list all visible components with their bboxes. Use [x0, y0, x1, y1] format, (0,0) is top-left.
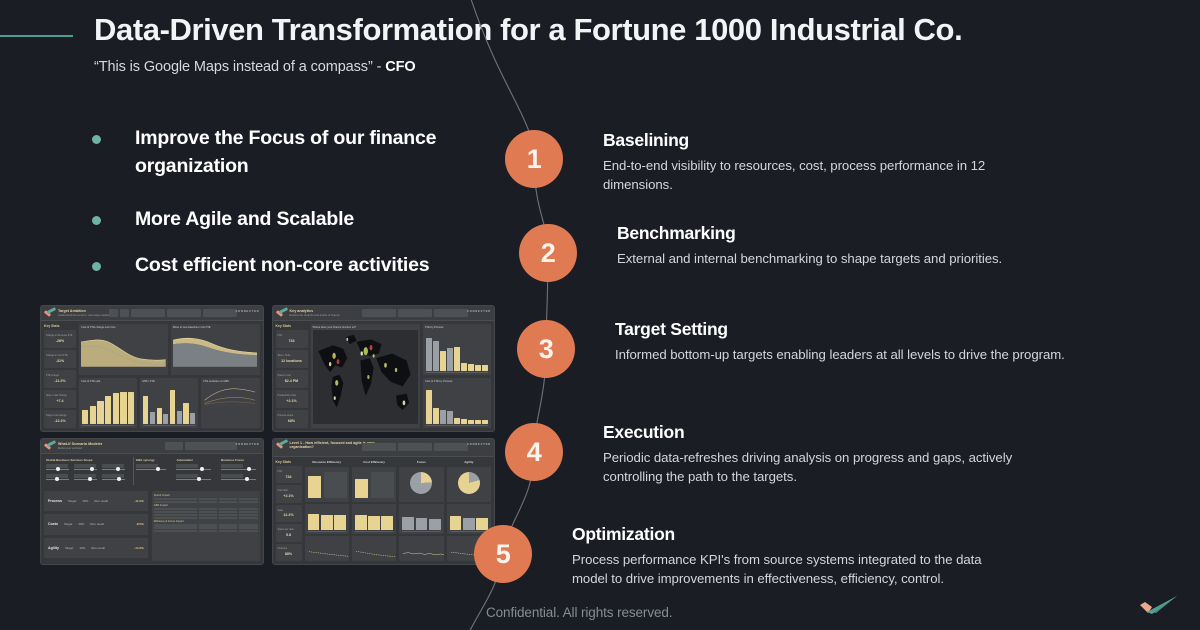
bar-chart [82, 385, 134, 425]
step-title: Benchmarking [617, 223, 1077, 244]
summary-metric: Target [64, 522, 72, 526]
bar-chart [355, 472, 368, 498]
table-row [154, 527, 258, 529]
kpi-sidebar-heading: Key Stats [276, 460, 302, 464]
step-content-2: Benchmarking External and internal bench… [617, 223, 1077, 268]
chart-panel-cost-process: Cost of FTE by Process [423, 378, 491, 429]
slider-group: Business Focus [219, 457, 260, 485]
summary-result: Run result [91, 546, 105, 550]
footer-text: Confidential. All rights reserved. [486, 605, 672, 620]
bullet-dot-icon [92, 216, 101, 225]
slider[interactable] [136, 464, 169, 471]
step-title: Execution [603, 422, 1055, 443]
step-number: 4 [527, 437, 542, 468]
bullet-dot-icon [92, 135, 101, 144]
summary-row: Agility Target 12% Run result -14.2% [44, 538, 148, 558]
table-row [154, 498, 258, 500]
thumbnail-subtitle: Understand the current / new target ambi… [58, 314, 112, 317]
kpi-label: Outcome [278, 548, 300, 551]
filter-dropdown[interactable] [434, 443, 468, 451]
table-row [154, 530, 258, 532]
chart-panel [447, 504, 491, 533]
bullet-dot-icon [92, 262, 101, 271]
chart-panel [352, 536, 396, 561]
filter-dropdown[interactable] [167, 309, 201, 317]
axis-line [450, 531, 488, 532]
kpi-label: Target cost savings [46, 415, 74, 418]
summary-name: Agility [48, 546, 59, 550]
panel-title: GBS / FTE [142, 380, 196, 383]
step-description: Periodic data-refreshes driving analysis… [603, 448, 1055, 486]
kpi-card: Spans per ratio 5.8 [276, 524, 302, 541]
summary-delta: -8.5% [136, 522, 144, 526]
chart-panel-pie [399, 467, 443, 502]
slider[interactable] [74, 464, 99, 471]
bar-chart-stacked [426, 333, 488, 371]
slider-group-title: GBS synergy [136, 458, 169, 462]
kpi-value: 12.2% [278, 513, 300, 517]
chart-panel-area: Cost of FTE change over time [79, 324, 168, 375]
axis-line [355, 531, 393, 532]
chart-panel-bars: Cost of FTE split [79, 378, 137, 429]
table-section-heading: Efficiency & Focus Impact [154, 520, 258, 523]
sparkline-chart [308, 549, 349, 558]
kpi-card: Spend / cost $2.4 PM [276, 370, 308, 388]
checkmark-logo-icon [276, 309, 287, 318]
thumbnail-body: Global Business Services Scope [41, 454, 263, 564]
panel-title: Cost of FTE by Process [425, 380, 489, 383]
kpi-card: FTE change -11.2% [44, 370, 76, 388]
slider[interactable] [74, 474, 99, 481]
chart-panel-area-2: Move to new baseline in the FTE [171, 324, 260, 375]
world-map[interactable] [313, 330, 418, 424]
kpi-value: +2.1% [278, 399, 306, 403]
checkmark-logo-icon [276, 441, 287, 450]
bar-chart [450, 509, 488, 529]
chart-area: Where does your finance function sit? [311, 324, 492, 428]
metric-column: Cost Efficiency [352, 460, 396, 561]
accent-rule [0, 35, 73, 37]
kpi-card: Change in Cost FTE -31% [44, 350, 76, 368]
step-description: End-to-end visibility to resources, cost… [603, 156, 1033, 194]
panel-title: Move to new baseline in the FTE [173, 326, 258, 329]
summary-pct: 20% [78, 522, 84, 526]
filter-chip[interactable] [109, 309, 118, 317]
slider[interactable] [102, 474, 127, 481]
step-description: Informed bottom-up targets enabling lead… [615, 345, 1065, 364]
kpi-label: FTE change [46, 375, 74, 378]
kpi-value: $2.4 PM [278, 379, 306, 383]
filter-bar[interactable] [109, 309, 237, 317]
kpi-value: -11.2% [46, 379, 74, 383]
results-panel: Process Target 10% Run result -11.0% Cos… [44, 491, 260, 561]
slider-group: Automation [174, 457, 215, 485]
chart-row: Cost of FTE change over time Move to new… [79, 324, 260, 375]
kpi-label: Cost ratio [278, 490, 300, 493]
summary-row: Costs Target 20% Run result -8.5% [44, 514, 148, 534]
chart-panel [305, 467, 349, 502]
pie-chart [410, 472, 432, 494]
table-row [154, 517, 258, 519]
thumbnail-title: Target Ambition Understand the current /… [58, 309, 112, 317]
subtitle-attribution: CFO [385, 59, 415, 75]
summary-column: Process Target 10% Run result -11.0% Cos… [44, 491, 148, 561]
table-row [154, 511, 258, 513]
bar-chart [355, 509, 393, 529]
kpi-value: +2.1% [278, 494, 300, 498]
step-description: External and internal benchmarking to sh… [617, 249, 1077, 268]
kpi-card: Process scope 68% [276, 410, 308, 428]
summary-result: Run result [90, 522, 104, 526]
thumbnail-brand: CONNECTED [467, 310, 491, 313]
kpi-value: 88% [278, 552, 300, 556]
thumbnail-brand: CONNECTED [236, 443, 260, 446]
bar-panels-column: FTE by Process Cost of FTE by Process [423, 324, 491, 428]
subtitle-quote-text: “This is Google Maps instead of a compas… [94, 59, 385, 75]
step-content-4: Execution Periodic data-refreshes drivin… [603, 422, 1055, 486]
step-number: 3 [539, 334, 554, 365]
dashboard-thumbnail-target-ambition[interactable]: Target Ambition Understand the current /… [40, 305, 264, 432]
table-row [154, 501, 258, 503]
panel-title: FTE evolution vs GBS [203, 380, 257, 383]
table-section-heading: Spend Impact [154, 494, 258, 497]
kpi-label: FTE [278, 335, 306, 338]
step-circle-3[interactable]: 3 [517, 320, 575, 378]
step-circle-5[interactable]: 5 [474, 525, 532, 583]
step-content-5: Optimization Process performance KPI's f… [572, 524, 997, 588]
slider-group: GBS synergy [133, 457, 171, 485]
filter-dropdown[interactable] [434, 309, 468, 317]
filter-bar[interactable] [165, 442, 237, 450]
chart-panel-bars-grouped: GBS / FTE [140, 378, 198, 429]
page-title: Data-Driven Transformation for a Fortune… [94, 12, 1094, 48]
chart-panel [305, 504, 349, 533]
kpi-label: Change in Revenue FTE [46, 335, 74, 338]
filter-dropdown[interactable] [398, 443, 432, 451]
panel-title: FTE by Process [425, 326, 489, 329]
thumbnail-brand: CONNECTED [236, 310, 260, 313]
step-title: Target Setting [615, 319, 1065, 340]
chart-panel [305, 536, 349, 561]
filter-dropdown[interactable] [203, 309, 237, 317]
summary-delta: -14.2% [134, 546, 144, 550]
summary-pct: 10% [82, 499, 88, 503]
kpi-label: Sites / Hubs [278, 355, 306, 358]
table-row [154, 508, 258, 510]
thumbnail-header: What-If Scenario Modeler Model your ambi… [41, 439, 263, 454]
thumbnail-subtitle: Explore the footprint and profile of fin… [290, 314, 340, 317]
dashboard-thumbnail-scenario-modeler[interactable]: What-If Scenario Modeler Model your ambi… [40, 438, 264, 565]
axis-line [308, 531, 346, 532]
step-number: 1 [527, 144, 542, 175]
kpi-card: Cost ratio +2.1% [276, 485, 302, 502]
kpi-label: Span [278, 510, 300, 513]
line-chart [203, 384, 257, 406]
slider-panel: Global Business Services Scope [44, 457, 260, 485]
map-panel[interactable]: Where does your finance function sit? [311, 324, 420, 428]
column-title: Focus [399, 460, 443, 464]
filter-dropdown[interactable] [362, 309, 396, 317]
summary-pct: 12% [79, 546, 85, 550]
step-number: 2 [541, 238, 556, 269]
sparkline-chart [355, 549, 396, 558]
kpi-value: 734 [278, 339, 306, 343]
kpi-card: Sites / Hubs 12 locations [276, 350, 308, 368]
objective-label: Cost efficient non-core activities [135, 252, 492, 280]
table-section-heading: GBS Impact [154, 504, 258, 507]
chart-panel [399, 504, 443, 533]
thumbnail-header: Target Ambition Understand the current /… [41, 306, 263, 321]
step-description: Process performance KPI's from source sy… [572, 550, 997, 588]
panel-title: Cost of FTE change over time [81, 326, 166, 329]
bar-chart [308, 509, 346, 529]
kpi-value: 68% [278, 419, 306, 423]
axis-line [143, 425, 195, 426]
dashboard-thumbnail-level-1[interactable]: Level 1 - How efficient, focused and agi… [272, 438, 496, 565]
chart-row: Cost of FTE split GBS / FTE [79, 378, 260, 429]
slider[interactable] [176, 464, 213, 471]
slider-group-title: Business Focus [221, 458, 258, 462]
filter-bar[interactable] [362, 309, 468, 317]
kpi-label: Spend / cost [278, 375, 306, 378]
step-title: Optimization [572, 524, 997, 545]
step-number: 5 [496, 539, 511, 570]
chart-area: Cost of FTE change over time Move to new… [79, 324, 260, 428]
step-content-3: Target Setting Informed bottom-up target… [615, 319, 1065, 364]
kpi-card: FTE 734 [276, 466, 302, 483]
list-item: Improve the Focus of our finance organiz… [92, 125, 492, 180]
chart-panel-fte-process: FTE by Process [423, 324, 491, 375]
chart-panel [399, 536, 443, 561]
list-item: Cost efficient non-core activities [92, 252, 492, 280]
bar-chart-stacked [426, 387, 488, 425]
bar-chart [308, 472, 321, 498]
kpi-value: 734 [278, 475, 300, 479]
step-circle-1[interactable]: 1 [505, 130, 563, 188]
slider[interactable] [176, 474, 213, 481]
slider-group-title: Global Business Services Scope [46, 458, 127, 462]
thumbnail-body: Key Stats Change in Revenue FTE -28% Cha… [41, 321, 263, 431]
world-map-svg [313, 330, 418, 424]
thumbnail-header: Key analytics Explore the footprint and … [273, 306, 495, 321]
kpi-sidebar-heading: Key Stats [44, 324, 76, 328]
filter-bar[interactable] [362, 443, 468, 451]
objective-label: Improve the Focus of our finance organiz… [135, 125, 492, 180]
filter-dropdown[interactable] [131, 309, 165, 317]
checkmark-logo-icon [1136, 592, 1182, 618]
column-title: Cost Efficiency [352, 460, 396, 464]
axis-line [426, 425, 488, 426]
step-content-1: Baselining End-to-end visibility to reso… [603, 130, 1033, 194]
kpi-value: 5.8 [278, 533, 300, 537]
kpi-sidebar: Key Stats FTE 734 Sites / Hubs 12 locati… [276, 324, 308, 428]
panel-title: Where does your finance function sit? [313, 326, 418, 329]
step-title: Baselining [603, 130, 1033, 151]
kpi-label: Span / ratio change [46, 395, 74, 398]
summary-row: Process Target 10% Run result -11.0% [44, 491, 148, 511]
bar-chart-grouped [143, 385, 195, 425]
slider-group-title: Automation [176, 458, 213, 462]
summary-delta: -11.0% [134, 499, 143, 503]
summary-name: Process [48, 499, 62, 503]
kpi-card: Span / ratio change +7.4 [44, 390, 76, 408]
chart-panel-pie [447, 467, 491, 502]
filter-chip[interactable] [165, 442, 183, 450]
summary-result: Run result [94, 499, 108, 503]
column-title: Agility [447, 460, 491, 464]
thumbnail-body: Key Stats FTE 734 Cost ratio +2.1% Span … [273, 457, 495, 564]
filter-dropdown[interactable] [185, 442, 237, 450]
kpi-value: -31% [46, 359, 74, 363]
axis-line [426, 372, 488, 373]
filter-dropdown[interactable] [362, 443, 396, 451]
slider[interactable] [221, 474, 258, 481]
kpi-card: Target cost savings -12.1% [44, 410, 76, 428]
area-chart [173, 330, 258, 367]
slider[interactable] [46, 464, 71, 471]
checkmark-logo-icon [44, 309, 55, 318]
column-title: Resource Efficiency [305, 460, 349, 464]
kpi-value: -28% [46, 339, 74, 343]
kpi-value: +7.4 [46, 399, 74, 403]
pie-chart [458, 472, 480, 494]
kpi-card: Outcome 88% [276, 544, 302, 561]
dashboard-thumbnail-key-analytics[interactable]: Key analytics Explore the footprint and … [272, 305, 496, 432]
slider-group: Global Business Services Scope [44, 457, 129, 485]
chart-panel [352, 504, 396, 533]
thumbnail-header: Level 1 - How efficient, focused and agi… [273, 439, 495, 457]
panel-title: Cost of FTE split [81, 380, 135, 383]
bar-chart [402, 509, 440, 529]
table-row [154, 514, 258, 516]
objectives-list: Improve the Focus of our finance organiz… [92, 125, 492, 306]
metric-columns: Resource Efficiency [305, 460, 492, 561]
kpi-label: Process scope [278, 415, 306, 418]
kpi-card: Productivity index +2.1% [276, 390, 308, 408]
kpi-sidebar-heading: Key Stats [276, 324, 308, 328]
dashboard-thumbnail-grid: Target Ambition Understand the current /… [40, 305, 495, 565]
thumbnail-title: Key analytics Explore the footprint and … [290, 309, 340, 317]
impact-table: Spend Impact GBS Impact Efficiency & Foc… [152, 491, 260, 561]
sparkline-chart [402, 549, 443, 558]
chart-panel [352, 467, 396, 502]
axis-line [402, 531, 440, 532]
metric-column: Focus [399, 460, 443, 561]
axis-line [82, 425, 134, 426]
slider[interactable] [102, 464, 127, 471]
kpi-label: FTE [278, 471, 300, 474]
metric-column: Resource Efficiency [305, 460, 349, 561]
chart-panel-lines: FTE evolution vs GBS [201, 378, 259, 429]
area-chart [81, 330, 166, 367]
thumbnail-body: Key Stats FTE 734 Sites / Hubs 12 locati… [273, 321, 495, 431]
summary-metric: Target [65, 546, 73, 550]
kpi-sidebar: Key Stats FTE 734 Cost ratio +2.1% Span … [276, 460, 302, 561]
summary-metric: Target [68, 499, 76, 503]
subtitle-quote: “This is Google Maps instead of a compas… [94, 59, 416, 75]
kpi-label: Spans per ratio [278, 529, 300, 532]
step-circle-2[interactable]: 2 [519, 224, 577, 282]
kpi-label: Productivity index [278, 395, 306, 398]
slider[interactable] [46, 474, 71, 481]
kpi-card: FTE 734 [276, 330, 308, 348]
kpi-value: -12.1% [46, 419, 74, 423]
thumbnail-title: What-If Scenario Modeler Model your ambi… [58, 442, 102, 450]
thumbnail-brand: CONNECTED [467, 443, 491, 446]
kpi-label: Change in Cost FTE [46, 355, 74, 358]
step-circle-4[interactable]: 4 [505, 423, 563, 481]
filter-chip[interactable] [120, 309, 129, 317]
list-item: More Agile and Scalable [92, 206, 492, 234]
kpi-card: Change in Revenue FTE -28% [44, 330, 76, 348]
kpi-value: 12 locations [278, 359, 306, 363]
summary-name: Costs [48, 522, 58, 526]
kpi-card: Span 12.2% [276, 505, 302, 522]
slider[interactable] [221, 464, 258, 471]
kpi-sidebar: Key Stats Change in Revenue FTE -28% Cha… [44, 324, 76, 428]
table-row [154, 524, 258, 526]
checkmark-logo-icon [44, 442, 55, 451]
thumbnail-subtitle: Model your ambition [58, 447, 102, 450]
filter-dropdown[interactable] [398, 309, 432, 317]
objective-label: More Agile and Scalable [135, 206, 492, 234]
